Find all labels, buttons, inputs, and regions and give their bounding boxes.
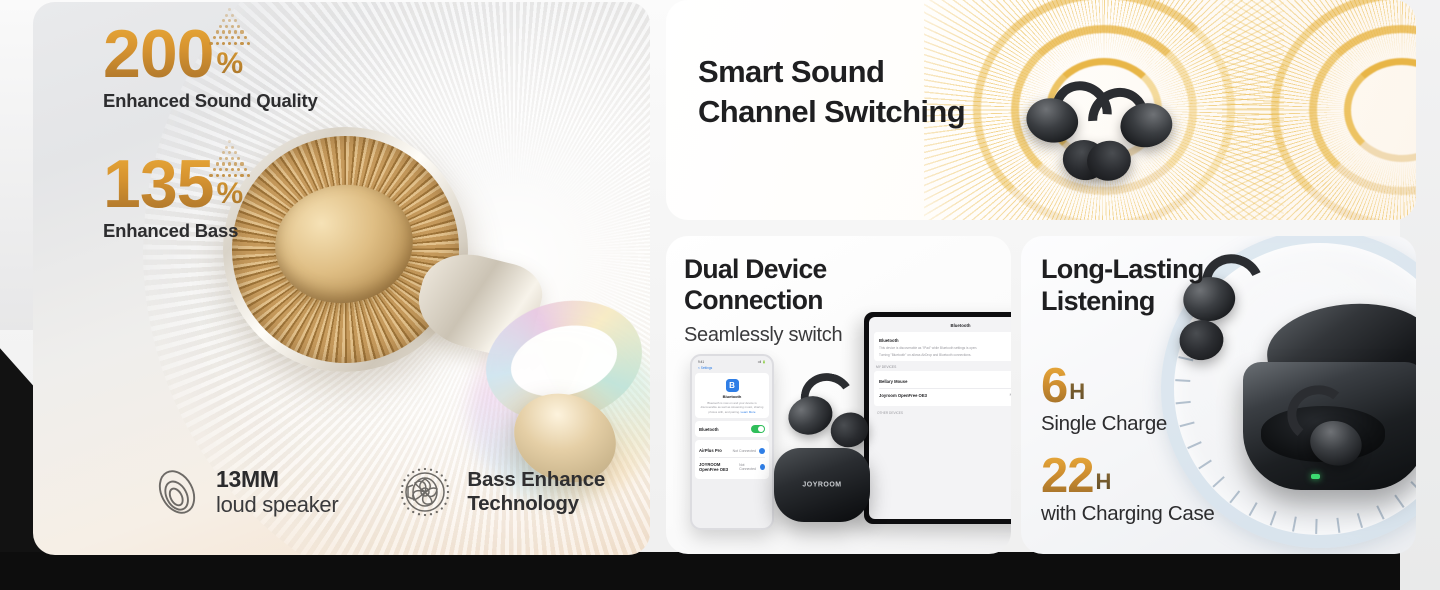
bluetooth-warning: Turning "Bluetooth" on allows AirDrop an… xyxy=(879,353,1011,357)
stat-caption: Single Charge xyxy=(1041,412,1167,436)
sound-wave-right xyxy=(1222,0,1416,220)
phone-app-title: Bluetooth xyxy=(699,394,765,399)
feature-text: Bass Enhance Technology xyxy=(467,468,605,516)
title-line-1: Dual Device xyxy=(684,254,827,285)
long-lasting-card[interactable]: Long-Lasting Listening 6 H Single Charge… xyxy=(1021,236,1416,554)
device-name: JOYROOM OpenFree OE3 xyxy=(699,462,739,472)
title-line-2: Channel Switching xyxy=(698,92,965,132)
title-line-1: Smart Sound xyxy=(698,52,965,92)
charging-case: JOYROOM xyxy=(774,448,870,522)
phone-back-button[interactable]: < Settings xyxy=(695,366,769,370)
stat-label: Enhanced Sound Quality xyxy=(103,90,318,112)
speaker-oval-icon xyxy=(151,465,203,519)
feature-badge-row: 13MM loud speaker xyxy=(151,463,605,521)
bluetooth-note: This device is discoverable as "iPad" wh… xyxy=(879,346,1011,351)
device-status: Not Connected xyxy=(739,463,757,471)
dot-triangle-icon xyxy=(207,140,251,182)
smart-sound-title: Smart Sound Channel Switching xyxy=(698,52,965,131)
info-icon[interactable] xyxy=(760,464,765,470)
device-name: Bellary Mouse xyxy=(879,379,907,384)
long-lasting-title: Long-Lasting Listening xyxy=(1041,254,1204,318)
phone-toggle-row[interactable]: Bluetooth xyxy=(699,425,765,433)
title-line-2: Listening xyxy=(1041,286,1204,318)
dual-device-card[interactable]: Dual Device Connection Seamlessly switch… xyxy=(666,236,1011,554)
dual-device-subtitle: Seamlessly switch xyxy=(684,324,842,347)
stat-single-charge: 6 H Single Charge xyxy=(1041,364,1167,436)
dot-triangle-icon xyxy=(207,8,251,50)
device-status-group: Not Connected xyxy=(733,448,765,454)
feature-line1: Bass Enhance xyxy=(467,468,605,492)
phone-device-list[interactable]: AirPlus Pro Not Connected JOYROOM OpenFr… xyxy=(695,440,769,479)
stat-number-row: 22 H xyxy=(1041,454,1215,498)
title-line-1: Long-Lasting xyxy=(1041,254,1204,286)
ring-group xyxy=(1222,0,1416,220)
case-brand-label: JOYROOM xyxy=(802,482,841,489)
title-line-2: Connection xyxy=(684,285,827,316)
device-status: Not Connected xyxy=(733,449,756,453)
device-status: Not Connected xyxy=(1010,393,1011,397)
dual-device-title: Dual Device Connection xyxy=(684,254,827,317)
phone-toggle-label: Bluetooth xyxy=(699,427,719,432)
tablet-device[interactable]: Bluetooth Bluetooth This device is disco… xyxy=(864,312,1011,524)
device-name: AirPlus Pro xyxy=(699,448,722,453)
stat-unit: H xyxy=(1069,379,1085,405)
learn-more-link[interactable]: Learn More xyxy=(741,410,756,414)
stat-caption: with Charging Case xyxy=(1041,502,1215,526)
feature-main: 13MM xyxy=(216,467,338,493)
smart-sound-card[interactable]: Smart Sound Channel Switching xyxy=(666,0,1416,220)
stat-charging-case: 22 H with Charging Case xyxy=(1041,454,1215,526)
bluetooth-toggle-card[interactable]: Bluetooth This device is discoverable as… xyxy=(874,332,1011,361)
device-row[interactable]: Bellary Mouse Connected xyxy=(879,375,1011,389)
stat-number: 135 xyxy=(103,152,213,217)
device-row[interactable]: JOYROOM OpenFree OE3 Not Connected xyxy=(699,458,765,475)
bluetooth-screen-header: Bluetooth xyxy=(874,323,1011,328)
my-devices-section-label: MY DEVICES xyxy=(876,365,1011,369)
stat-enhanced-sound-quality: 200 % Enhanced Sound Quality xyxy=(103,22,318,112)
device-row[interactable]: Joyroom OpenFree OE3 Not Connected xyxy=(879,389,1011,402)
bluetooth-toggle-label: Bluetooth xyxy=(879,338,899,343)
device-status-group: Not Connected xyxy=(739,463,765,471)
stat-number: 200 xyxy=(103,22,213,87)
stat-enhanced-bass: 135 % Enhanced Bass xyxy=(103,152,243,242)
stat-unit: % xyxy=(216,47,243,81)
feature-sub: loud speaker xyxy=(216,493,338,518)
info-icon[interactable] xyxy=(759,448,765,454)
phone-toggle-card[interactable]: Bluetooth xyxy=(695,421,769,437)
stat-label: Enhanced Bass xyxy=(103,220,243,242)
bass-driver-icon xyxy=(396,463,454,521)
bluetooth-icon xyxy=(726,379,739,392)
bluetooth-toggle-row[interactable]: Bluetooth xyxy=(879,336,1011,344)
device-name: Joyroom OpenFree OE3 xyxy=(879,393,927,398)
stat-number: 22 xyxy=(1041,454,1094,498)
device-status-group: Not Connected xyxy=(1010,392,1011,398)
phone-time: 9:41 xyxy=(698,360,704,364)
other-devices-label: OTHER DEVICES xyxy=(877,411,1011,415)
stat-unit: H xyxy=(1096,469,1112,495)
feature-13mm-speaker: 13MM loud speaker xyxy=(151,465,338,519)
phone-bluetooth-toggle[interactable] xyxy=(751,425,765,433)
phone-bluetooth-card: Bluetooth Bluetooth is now on and your d… xyxy=(695,373,769,418)
device-row[interactable]: AirPlus Pro Not Connected xyxy=(699,444,765,458)
feature-text: 13MM loud speaker xyxy=(216,467,338,517)
sound-ring xyxy=(1271,0,1416,220)
feature-bass-enhance: Bass Enhance Technology xyxy=(396,463,605,521)
phone-app-body: Bluetooth is now on and your device is d… xyxy=(699,401,765,414)
feature-line2: Technology xyxy=(467,492,605,516)
phone-signal-icons: •ıll 🔋 xyxy=(758,360,766,364)
phone-device[interactable]: 9:41 •ıll 🔋 < Settings Bluetooth Bluetoo… xyxy=(690,354,774,530)
device-list[interactable]: Bellary Mouse Connected Joyroom OpenFree… xyxy=(874,371,1011,406)
tablet-screen[interactable]: Bluetooth Bluetooth This device is disco… xyxy=(869,317,1011,519)
stat-number: 6 xyxy=(1041,364,1067,408)
charging-led-indicator xyxy=(1311,474,1320,479)
stat-number-row: 6 H xyxy=(1041,364,1167,408)
driver-feature-card[interactable]: 200 % Enhanced Sound Quality 135 % Enhan… xyxy=(33,2,650,555)
background-bottom-fade xyxy=(650,550,1440,590)
